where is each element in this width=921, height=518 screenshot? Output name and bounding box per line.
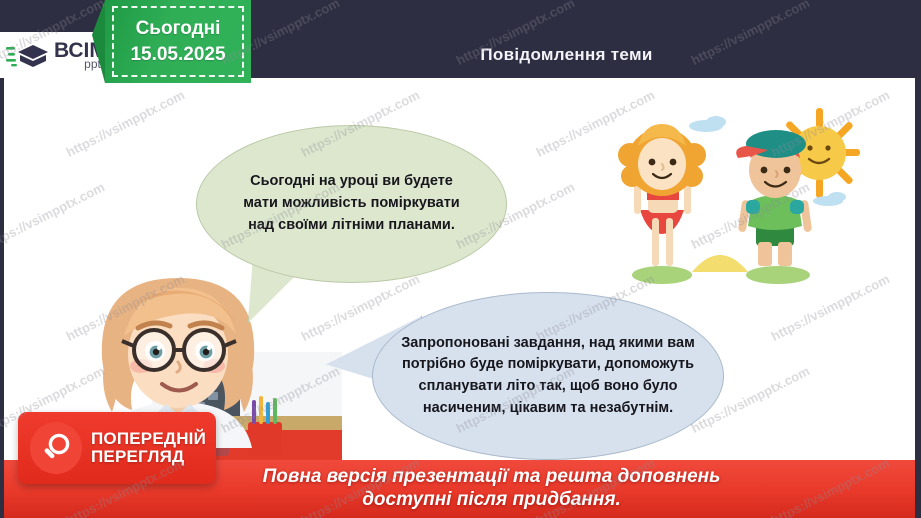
frame-border-left <box>0 78 4 518</box>
date-tag-value: 15.05.2025 <box>130 44 225 66</box>
bubble-text: Запропоновані завдання, над якими вам по… <box>372 292 724 460</box>
presentation-slide: Сьогодні на уроці ви будете мати можливі… <box>0 0 921 518</box>
page-title: Повідомлення теми <box>480 45 652 65</box>
boy-character <box>736 130 812 266</box>
preview-badge[interactable]: ПОПЕРЕДНІЙ ПЕРЕГЛЯД <box>18 412 216 484</box>
date-tag-label: Сьогодні <box>136 18 221 40</box>
summer-kids-illustration <box>600 100 910 290</box>
date-tag: Сьогодні 15.05.2025 <box>105 0 251 83</box>
sand-mound <box>692 255 748 272</box>
kids-scene-svg <box>600 100 910 290</box>
speech-bubble-lesson-intro: Сьогодні на уроці ви будете мати можливі… <box>196 125 507 283</box>
preview-badge-line2: ПЕРЕГЛЯД <box>91 448 206 466</box>
slide-header-bar: Повідомлення теми <box>253 33 916 76</box>
magnifier-icon <box>39 431 73 465</box>
bubble-text: Сьогодні на уроці ви будете мати можливі… <box>196 125 507 283</box>
speech-bubble-tasks-info: Запропоновані завдання, над якими вам по… <box>372 292 724 460</box>
banner-line2: доступні після придбання. <box>263 489 721 512</box>
magnifier-icon-wrap <box>30 422 82 474</box>
preview-badge-line1: ПОПЕРЕДНІЙ <box>91 430 206 448</box>
graduation-cap-icon <box>6 40 50 70</box>
banner-line1: Повна версія презентації та решта доповн… <box>263 466 721 489</box>
girl-character <box>618 124 706 266</box>
frame-border-right <box>915 78 921 518</box>
